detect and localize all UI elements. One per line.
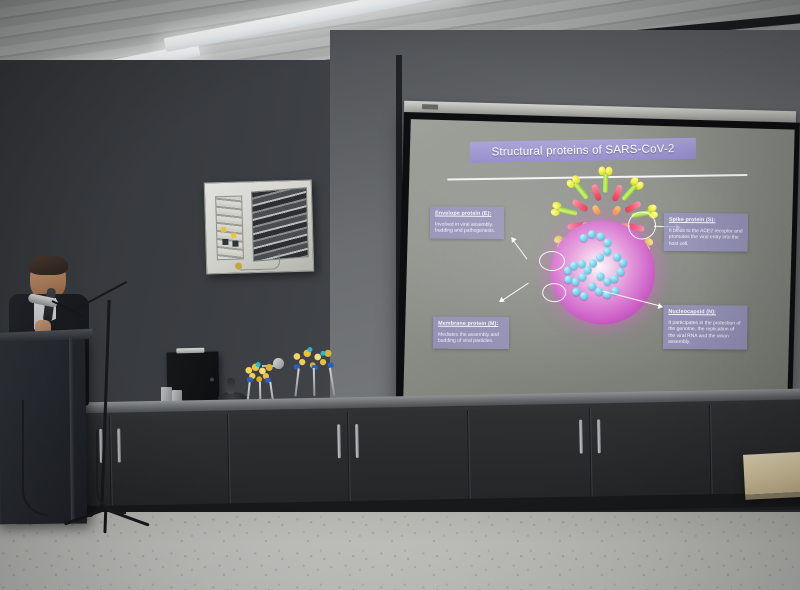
wall-display-case [204,180,315,275]
cabinet-door[interactable] [348,410,470,512]
projection-screen-frame: Structural proteins of SARS-CoV-2 [396,112,800,423]
gold-model-head [242,360,276,385]
callout-title: Envelope protein (E): [435,211,499,218]
slide-title-bar: Structural proteins of SARS-CoV-2 [470,138,696,163]
presenter-hair [28,255,68,275]
boom-arm-upper [72,288,142,328]
wood-desk-surface [743,449,800,495]
callout-body: Involved in viral assembly, budding and … [435,221,499,234]
callout-body: Mediates the assembly and budding of vir… [438,332,504,345]
cable [22,400,48,516]
display-case-wire [240,253,280,270]
slide-title: Structural proteins of SARS-CoV-2 [491,143,674,158]
callout-body: It binds to the ACE2 receptor and promot… [669,228,743,248]
callout-envelope-protein: Envelope protein (E): Involved in viral … [430,207,504,239]
callout-title: Spike protein (S): [669,217,743,225]
cable [96,430,126,514]
lecture-hall-photo: Structural proteins of SARS-CoV-2 [0,0,800,590]
display-case-left-exhibit [215,195,244,260]
callout-membrane-protein: Membrane protein (M): Mediates the assem… [433,317,509,349]
cabinet-door[interactable] [468,407,592,509]
callout-title: Nucleocapsid (N): [668,309,742,317]
display-case-right-exhibit [251,187,309,261]
callout-nucleocapsid: Nucleocapsid (N): It participates in the… [663,305,747,350]
callout-title: Membrane protein (M): [438,321,504,328]
callout-spike-protein: Spike protein (S): It binds to the ACE2 … [664,213,748,252]
callout-body: It participates in the protection of the… [668,320,742,346]
cabinet-door[interactable] [228,412,350,514]
housing-badge [422,104,438,109]
projection-screen-surface: Structural proteins of SARS-CoV-2 [403,119,795,413]
cabinet-door[interactable] [590,405,712,507]
